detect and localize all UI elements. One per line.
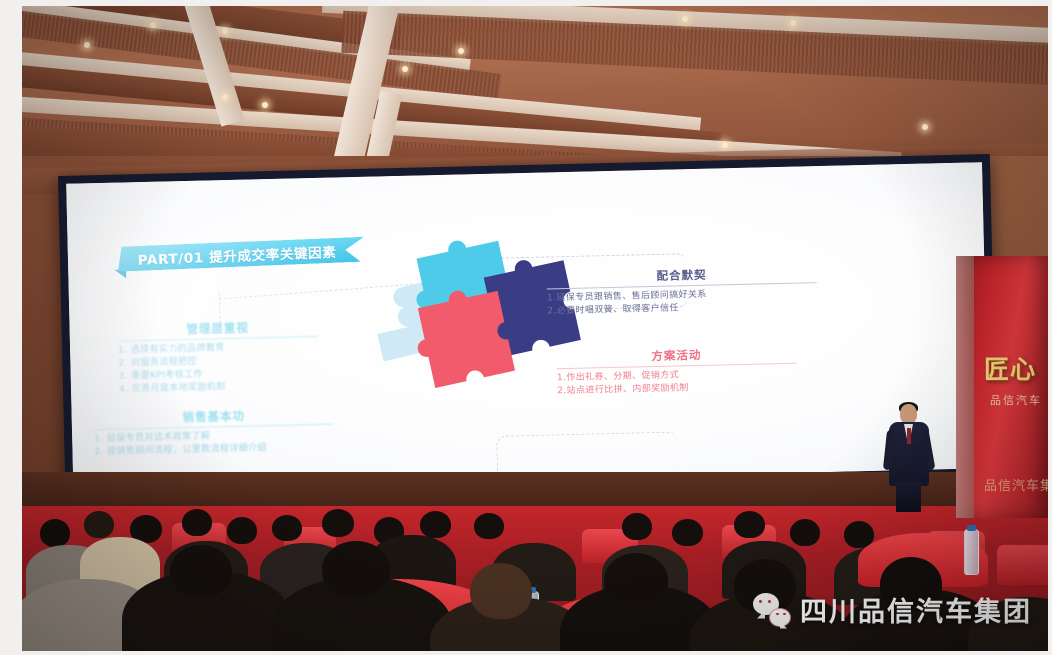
presenter (886, 404, 932, 512)
audience-head (170, 545, 232, 597)
audience-head (420, 511, 451, 538)
watermark-text: 四川品信汽车集团 (800, 590, 1032, 629)
red-vertical-banner: 匠心 品信汽车 品信汽车集团 (956, 256, 1048, 518)
slide-title-ribbon: PART/01 提升成交率关键因素 (118, 237, 364, 272)
bottle-cap (967, 525, 976, 531)
audience-head (622, 513, 652, 540)
audience-head (734, 511, 765, 538)
presenter-tie (907, 428, 911, 444)
audience-head (790, 519, 820, 546)
audience-head (84, 511, 114, 538)
wechat-icon (753, 593, 791, 627)
audience-head (672, 519, 703, 546)
ceiling-light (222, 94, 228, 100)
block-heading: 销售基本功 (94, 406, 334, 431)
wechat-bubble-small (769, 608, 791, 627)
ceiling-light (222, 28, 228, 34)
slide-block-teamwork: 配合默契 1.延保专员跟销售、售后顾问搞好关系 2.必要时唱双簧、取得客户信任 (546, 264, 817, 318)
audience-head (227, 517, 257, 544)
presenter-head (900, 404, 917, 424)
audience-head (182, 509, 212, 536)
audience-head (322, 541, 390, 597)
audience-head (322, 509, 354, 537)
photo-border: PART/01 提升成交率关键因素 (0, 0, 1052, 655)
block-heading: 管理层重视 (117, 318, 317, 342)
audience-head (604, 553, 668, 607)
chair (997, 545, 1048, 585)
ceiling-light (458, 48, 464, 54)
banner-main-text: 匠心 (984, 350, 1036, 386)
wechat-eye (783, 613, 786, 616)
photograph: PART/01 提升成交率关键因素 (22, 6, 1048, 651)
slide-content: PART/01 提升成交率关键因素 (66, 162, 989, 489)
banner-edge (956, 256, 974, 518)
watermark: 四川品信汽车集团 (753, 590, 1032, 629)
ceiling-light (790, 20, 796, 26)
water-bottle (964, 529, 979, 575)
banner-skyline-text: 品信汽车集团 (984, 475, 1048, 494)
ceiling-light (682, 16, 688, 22)
wechat-eye (776, 613, 779, 616)
projection-screen: PART/01 提升成交率关键因素 (66, 162, 989, 489)
audience-head (272, 515, 302, 541)
ceiling-light (84, 42, 90, 48)
audience-head (40, 519, 70, 547)
ceiling-light (402, 66, 408, 72)
ceiling-light (922, 124, 928, 130)
slide-block-sales-basics: 销售基本功 1. 延保专员对话术政策了解 2. 按销售顾问流程，公里数流程详细介… (94, 406, 335, 460)
screenshot-root: PART/01 提升成交率关键因素 (0, 0, 1052, 655)
ceiling-light (150, 22, 156, 28)
banner-sub-text: 品信汽车 (990, 392, 1042, 408)
slide-block-management: 管理层重视 1. 选择有实力的品牌教育 2. 对服务流程把控 3. 重要KPI考… (117, 318, 319, 397)
ceiling-light (722, 142, 728, 148)
ceiling-light (262, 102, 268, 108)
slide-block-program-activities: 方案活动 1.作出礼券、分期、促销方式 2.站点进行比拼、内部奖励机制 (556, 345, 797, 399)
projection-screen-frame: PART/01 提升成交率关键因素 (58, 154, 997, 498)
slide-title: PART/01 提升成交率关键因素 (137, 240, 336, 268)
audience-head (470, 563, 532, 619)
audience-head (474, 513, 504, 539)
